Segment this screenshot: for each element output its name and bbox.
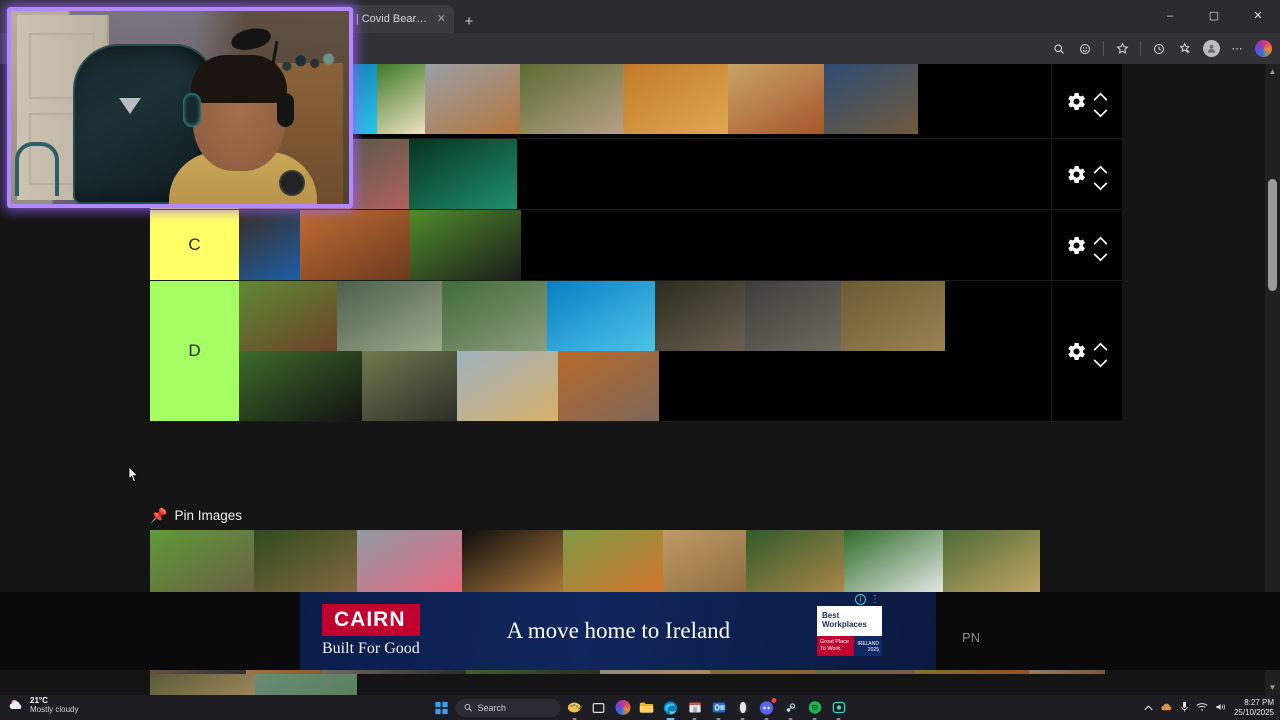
tier-image-boar[interactable] bbox=[745, 281, 841, 351]
tier-row-controls-d bbox=[1051, 281, 1122, 421]
system-tray: 8:27 PM 25/10/2025 bbox=[1144, 695, 1274, 720]
ad-options-icon[interactable]: ⋮ bbox=[870, 597, 880, 603]
collections-icon[interactable] bbox=[1174, 38, 1196, 60]
start-icon[interactable] bbox=[432, 698, 452, 718]
ad-network-label: PN bbox=[962, 630, 980, 645]
webcam-vacuum bbox=[15, 142, 59, 196]
notification-badge bbox=[771, 697, 778, 704]
badge-bottom: Great Place To Work. IRELAND 2025 bbox=[817, 636, 882, 656]
streamer-webcam-overlay bbox=[7, 7, 353, 208]
tier-reorder-controls-b bbox=[1093, 161, 1108, 187]
gear-icon[interactable] bbox=[1066, 164, 1087, 185]
outlook-icon[interactable] bbox=[709, 698, 729, 718]
taskbar-apps: Search bbox=[432, 695, 849, 720]
partly-cloudy-icon bbox=[8, 697, 25, 714]
pin-images-title: Pin Images bbox=[174, 508, 242, 523]
edge-icon[interactable] bbox=[661, 698, 681, 718]
desktop-screen: Create a New Tier List - TierMaker ✕ Cre… bbox=[0, 0, 1280, 720]
speaker-icon[interactable] bbox=[1215, 702, 1227, 714]
tier-row-controls-c bbox=[1051, 210, 1122, 280]
steam-icon[interactable] bbox=[781, 698, 801, 718]
tier-image-wolf[interactable] bbox=[425, 64, 520, 134]
tier-image-barracuda[interactable] bbox=[409, 139, 517, 209]
history-icon[interactable] bbox=[1148, 38, 1170, 60]
mouse-cursor bbox=[128, 466, 139, 483]
gear-icon[interactable] bbox=[1066, 235, 1087, 256]
webcam-microphone bbox=[279, 170, 305, 196]
tier-items-d[interactable] bbox=[239, 281, 1051, 421]
chevron-up-icon[interactable] bbox=[1093, 88, 1108, 97]
toolbar-divider bbox=[1140, 41, 1141, 56]
tier-reorder-controls-d bbox=[1093, 338, 1108, 364]
webcam-person-hair bbox=[191, 55, 287, 103]
tier-label-c[interactable]: C bbox=[150, 210, 239, 280]
scrollbar-up-arrow[interactable]: ▲ bbox=[1265, 64, 1280, 79]
tier-reorder-controls-c bbox=[1093, 232, 1108, 258]
chevron-down-icon[interactable] bbox=[1093, 105, 1108, 114]
clock-date: 25/10/2025 bbox=[1234, 708, 1274, 717]
tier-image-alpaca[interactable] bbox=[377, 64, 425, 134]
cloud-icon[interactable] bbox=[1160, 701, 1173, 714]
search-placeholder: Search bbox=[478, 703, 507, 713]
badge-subtitle: Great Place To Work. bbox=[817, 636, 854, 656]
tier-row-d: D bbox=[150, 281, 1122, 422]
tier-reorder-controls-a bbox=[1093, 88, 1108, 114]
ad-controls: i ⋮ bbox=[855, 594, 880, 605]
weather-text: 21°C Mostly cloudy bbox=[30, 697, 78, 714]
copilot-icon[interactable] bbox=[613, 698, 633, 718]
windows-taskbar: 21°C Mostly cloudy Search bbox=[0, 695, 1280, 720]
new-tab-button[interactable]: + bbox=[457, 9, 481, 33]
scrollbar-thumb[interactable] bbox=[1268, 179, 1277, 291]
ad-info-icon[interactable]: i bbox=[855, 594, 866, 605]
favorite-star-icon[interactable] bbox=[1111, 38, 1133, 60]
tier-row-c: C bbox=[150, 210, 1122, 281]
ad-brand-block: CAIRN Built For Good bbox=[322, 604, 420, 658]
tier-image-bison[interactable] bbox=[841, 281, 945, 351]
clock-time: 8:27 PM bbox=[1244, 698, 1274, 707]
tier-row-controls-a bbox=[1051, 64, 1122, 138]
tier-image-crocodile[interactable] bbox=[442, 281, 547, 351]
chevron-up-icon[interactable] bbox=[1093, 161, 1108, 170]
webcam-headphone-left bbox=[183, 93, 201, 127]
file-explorer-icon[interactable] bbox=[637, 698, 657, 718]
ad-tagline: Built For Good bbox=[322, 640, 420, 658]
tier-label-d[interactable]: D bbox=[150, 281, 239, 421]
tier-row-controls-b bbox=[1051, 139, 1122, 209]
tier-image-wildebeest[interactable] bbox=[362, 351, 457, 421]
pin-image-hyena[interactable] bbox=[150, 674, 255, 695]
scrollbar-down-arrow[interactable]: ▼ bbox=[1265, 680, 1280, 695]
webcam-scene bbox=[11, 11, 349, 204]
weather-condition: Mostly cloudy bbox=[30, 706, 78, 714]
search-input[interactable]: Search bbox=[456, 699, 561, 717]
search-icon[interactable] bbox=[1048, 38, 1070, 60]
gear-icon[interactable] bbox=[1066, 341, 1087, 362]
profile-avatar[interactable] bbox=[1200, 38, 1222, 60]
tier-image-eagle[interactable] bbox=[824, 64, 918, 134]
photos-icon[interactable] bbox=[829, 698, 849, 718]
badge-title: Best Workplaces bbox=[817, 606, 882, 636]
tier-items-c[interactable] bbox=[239, 210, 1051, 280]
badge-region-year: IRELAND 2025 bbox=[854, 638, 882, 656]
close-button[interactable]: ✕ bbox=[1236, 0, 1280, 31]
badge-region: IRELAND bbox=[857, 641, 879, 647]
minimize-button[interactable]: – bbox=[1148, 0, 1192, 31]
tier-image-capybara[interactable] bbox=[239, 281, 337, 351]
window-controls: – ▢ ✕ bbox=[1148, 0, 1280, 33]
tier-image-black-bear[interactable] bbox=[239, 351, 362, 421]
taskbar-weather-widget[interactable]: 21°C Mostly cloudy bbox=[8, 697, 78, 714]
pin-icon: 📌 bbox=[150, 507, 167, 524]
tier-image-cow[interactable] bbox=[410, 210, 521, 280]
toolbar-actions: ⋯ bbox=[1048, 38, 1274, 60]
microphone-icon[interactable] bbox=[1180, 701, 1189, 715]
tier-image-dhole[interactable] bbox=[728, 64, 824, 134]
advertisement-bar: CAIRN Built For Good A move home to Irel… bbox=[0, 592, 1280, 670]
opera-gx-icon[interactable] bbox=[733, 698, 753, 718]
copilot-icon[interactable] bbox=[1252, 38, 1274, 60]
tier-image-cassowary[interactable] bbox=[239, 210, 300, 280]
maximize-button[interactable]: ▢ bbox=[1192, 0, 1236, 31]
more-settings-icon[interactable]: ⋯ bbox=[1226, 38, 1248, 60]
pin-images-header: 📌 Pin Images bbox=[150, 507, 242, 524]
tier-image-hyena[interactable] bbox=[520, 64, 623, 134]
webcam-bottles bbox=[281, 41, 339, 77]
tier-items-a[interactable] bbox=[239, 64, 1051, 138]
badge-year: 2025 bbox=[857, 647, 879, 653]
tier-image-dolphin[interactable] bbox=[547, 281, 655, 351]
chevron-up-icon[interactable] bbox=[1093, 232, 1108, 241]
task-view-icon[interactable] bbox=[589, 698, 609, 718]
pin-image-iguana[interactable] bbox=[255, 674, 357, 695]
ad-brand-name: CAIRN bbox=[322, 604, 420, 636]
tier-image-alligator[interactable] bbox=[337, 281, 442, 351]
webcam-headphone-right bbox=[277, 93, 294, 127]
tier-image-chimpanzee[interactable] bbox=[655, 281, 745, 351]
close-icon[interactable]: ✕ bbox=[437, 14, 446, 25]
chevron-up-icon[interactable] bbox=[1093, 338, 1108, 347]
tier-image-cobra[interactable] bbox=[300, 210, 410, 280]
tier-image-baboon[interactable] bbox=[351, 139, 409, 209]
wifi-icon[interactable] bbox=[1196, 702, 1208, 714]
search-icon bbox=[464, 703, 473, 712]
cairn-advertisement[interactable]: CAIRN Built For Good A move home to Irel… bbox=[300, 592, 936, 670]
ad-headline: A move home to Ireland bbox=[420, 618, 817, 644]
tier-image-elephant[interactable] bbox=[558, 351, 659, 421]
tier-items-b[interactable] bbox=[239, 139, 1051, 209]
chevron-down-icon[interactable] bbox=[1093, 178, 1108, 187]
taskbar-clock[interactable]: 8:27 PM 25/10/2025 bbox=[1234, 698, 1274, 716]
gear-icon[interactable] bbox=[1066, 91, 1087, 112]
smiley-icon[interactable] bbox=[1074, 38, 1096, 60]
microsoft-store-icon[interactable] bbox=[685, 698, 705, 718]
tier-image-cheetah[interactable] bbox=[457, 351, 558, 421]
paint-icon[interactable] bbox=[565, 698, 585, 718]
webcam-lamp bbox=[229, 25, 272, 53]
chevron-up-icon[interactable] bbox=[1144, 703, 1153, 713]
spotify-icon[interactable] bbox=[805, 698, 825, 718]
best-workplaces-badge: Best Workplaces Great Place To Work. IRE… bbox=[817, 606, 882, 655]
toolbar-divider bbox=[1103, 41, 1104, 56]
tier-image-antelope[interactable] bbox=[623, 64, 728, 134]
chevron-down-icon[interactable] bbox=[1093, 355, 1108, 364]
discord-icon[interactable] bbox=[757, 698, 777, 718]
chevron-down-icon[interactable] bbox=[1093, 249, 1108, 258]
